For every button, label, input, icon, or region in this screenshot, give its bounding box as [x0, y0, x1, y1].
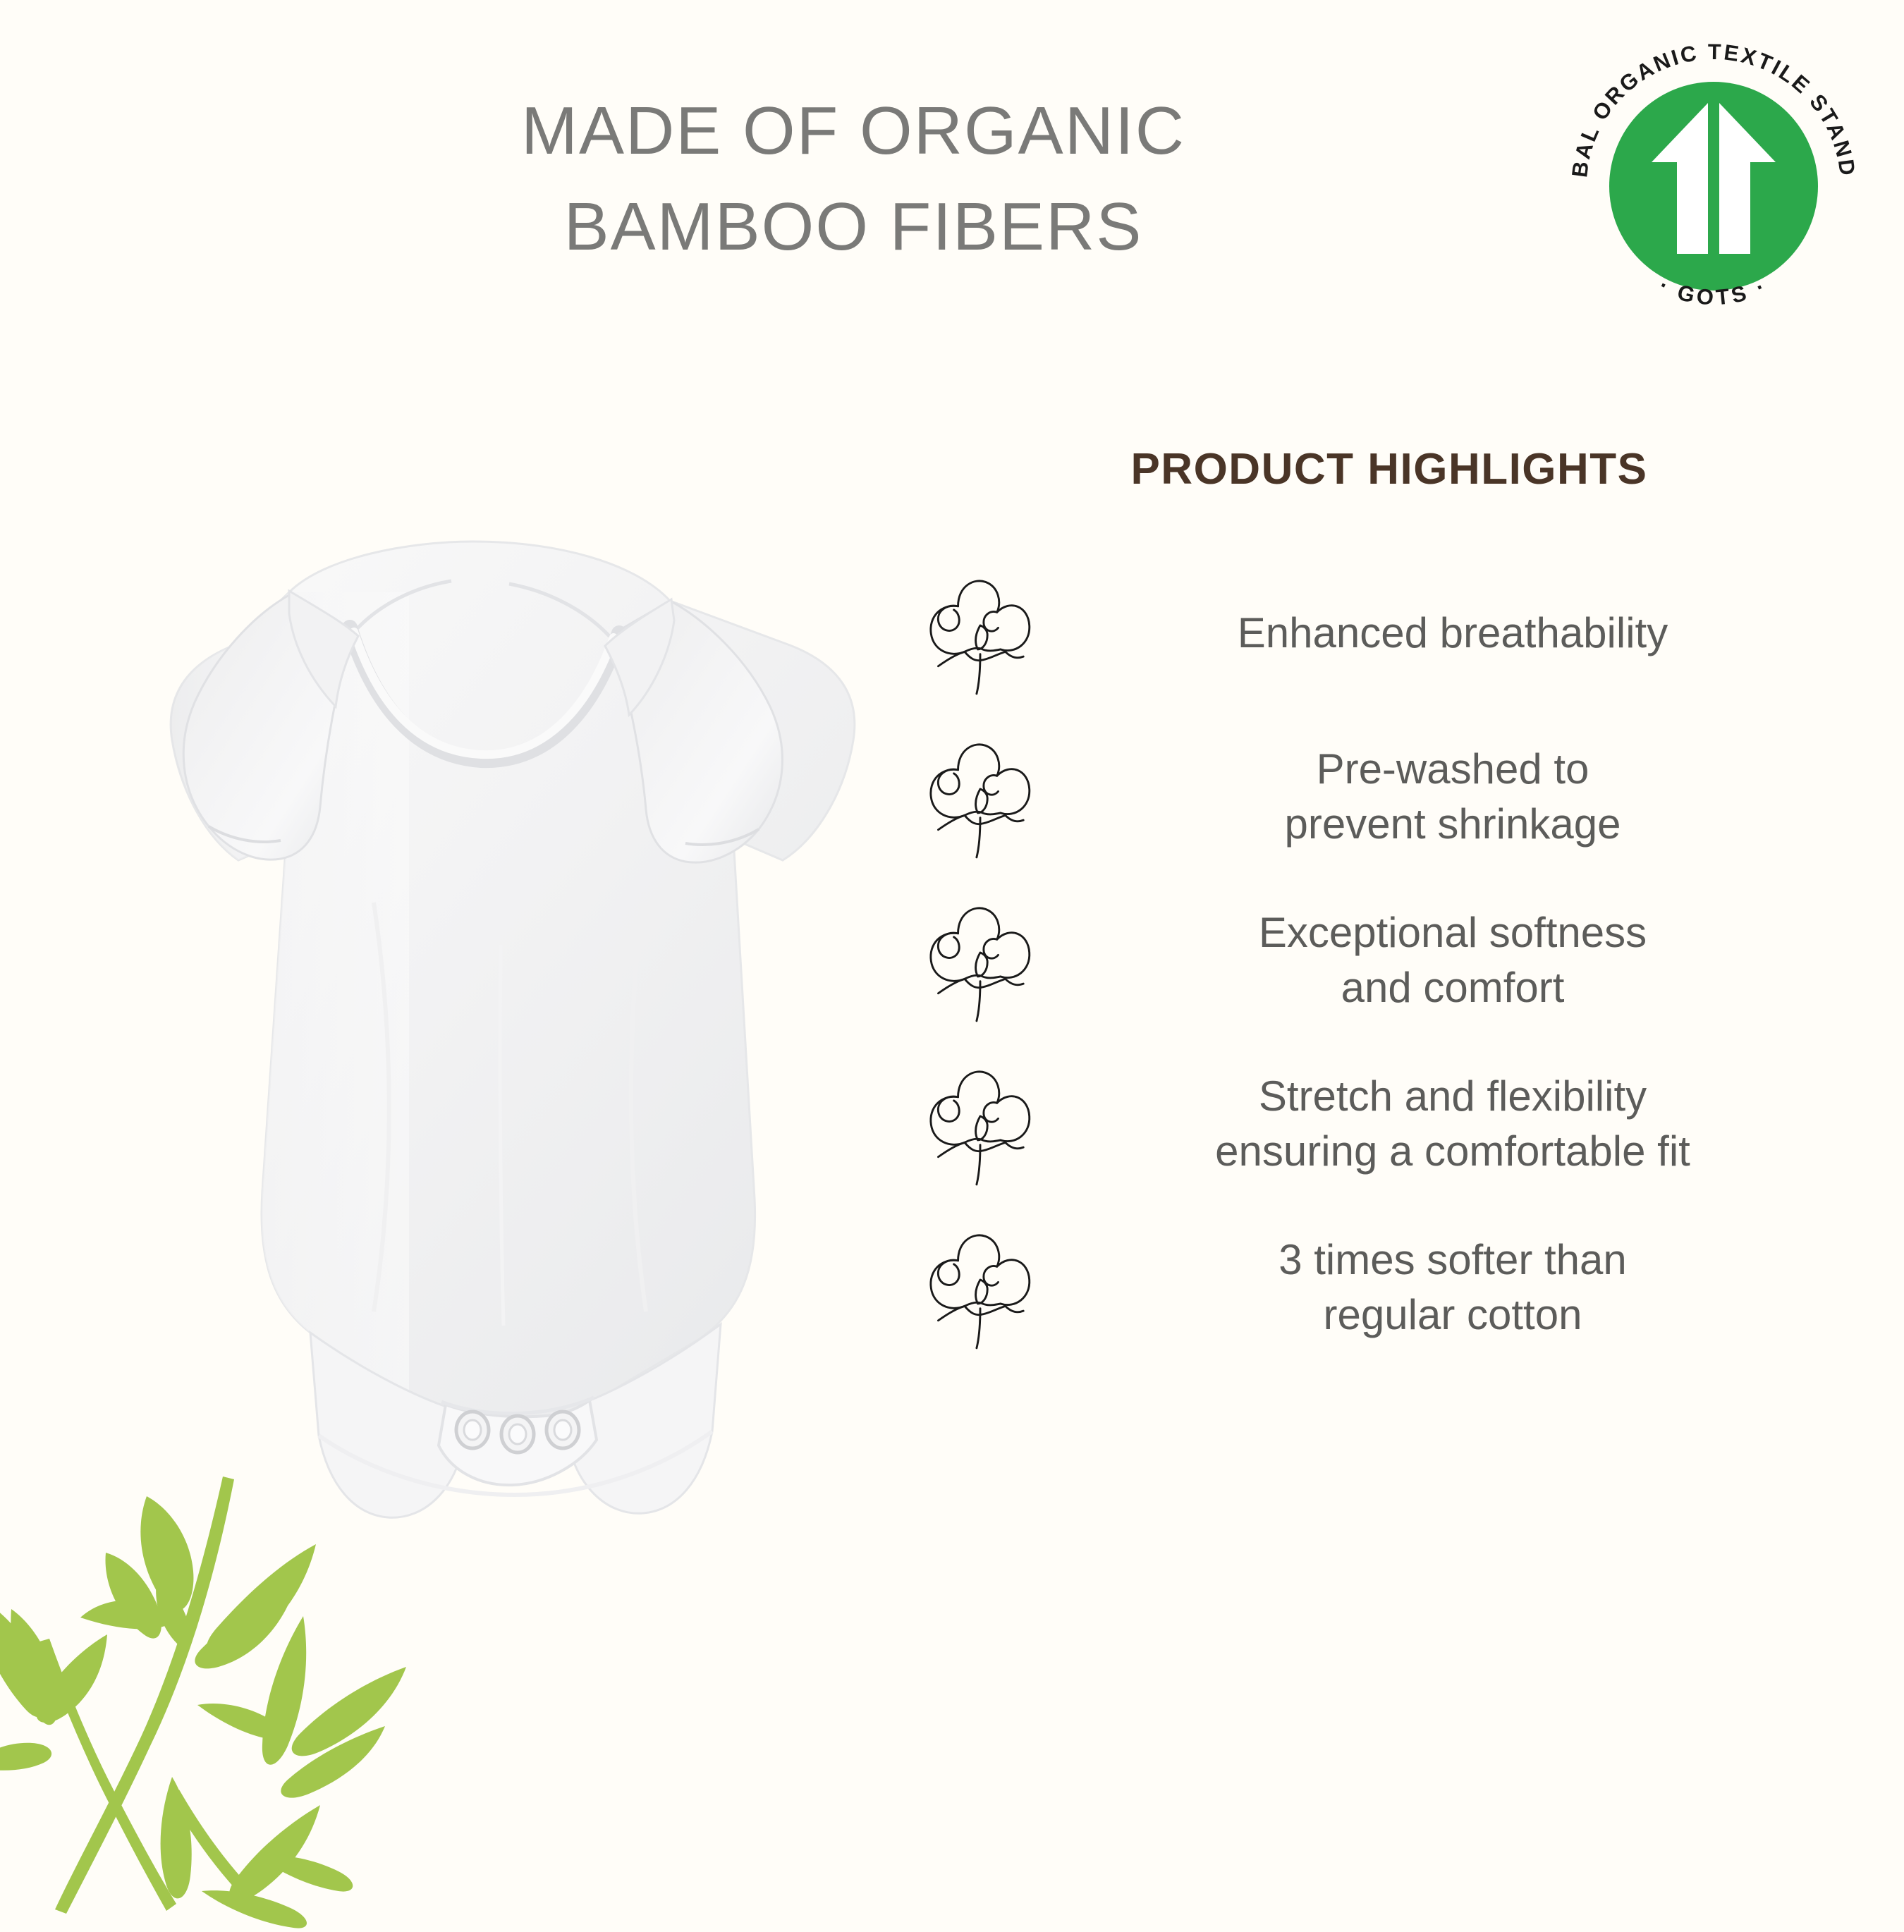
gots-certification-seal: GLOBAL ORGANIC TEXTILE STANDARD · GOTS ·: [1551, 13, 1876, 351]
highlight-label-line-2: ensuring a comfortable fit: [1051, 1124, 1855, 1179]
cotton-boll-icon: [910, 893, 1051, 1027]
highlight-label-line-1: Pre-washed to: [1051, 742, 1855, 797]
product-highlights-panel: PRODUCT HIGHLIGHTS: [910, 444, 1869, 1377]
headline-line-1: MADE OF ORGANIC: [395, 83, 1312, 179]
headline-line-2: BAMBOO FIBERS: [395, 179, 1312, 275]
highlight-label-line-2: prevent shrinkage: [1051, 797, 1855, 852]
cotton-boll-icon: [910, 566, 1051, 700]
gots-green-circle: [1609, 82, 1818, 291]
highlight-label: Stretch and flexibility ensuring a comfo…: [1051, 1069, 1869, 1179]
highlight-item: Enhanced breathability: [910, 559, 1869, 707]
highlight-item: Stretch and flexibility ensuring a comfo…: [910, 1050, 1869, 1198]
highlight-label-line-1: Stretch and flexibility: [1051, 1069, 1855, 1124]
highlight-label-line-2: regular cotton: [1051, 1288, 1855, 1343]
highlight-label: 3 times softer than regular cotton: [1051, 1233, 1869, 1343]
white-baby-bodysuit: [78, 508, 952, 1608]
page-canvas: MADE OF ORGANIC BAMBOO FIBERS GLOBAL ORG…: [0, 0, 1904, 1904]
highlight-label-line-2: and comfort: [1051, 960, 1855, 1015]
cotton-boll-icon: [910, 730, 1051, 864]
highlight-label: Pre-washed to prevent shrinkage: [1051, 742, 1869, 852]
cotton-boll-icon: [910, 1221, 1051, 1355]
snap-buttons: [456, 1412, 579, 1453]
page-title: MADE OF ORGANIC BAMBOO FIBERS: [395, 83, 1312, 276]
highlight-item: Exceptional softness and comfort: [910, 886, 1869, 1034]
highlights-title: PRODUCT HIGHLIGHTS: [910, 444, 1869, 494]
highlight-item: Pre-washed to prevent shrinkage: [910, 723, 1869, 871]
highlight-label-line-1: 3 times softer than: [1051, 1233, 1855, 1288]
highlight-label: Enhanced breathability: [1051, 606, 1869, 661]
highlight-label-line-1: Enhanced breathability: [1051, 606, 1855, 661]
cotton-boll-icon: [910, 1057, 1051, 1191]
highlight-label-line-1: Exceptional softness: [1051, 905, 1855, 960]
highlight-item: 3 times softer than regular cotton: [910, 1213, 1869, 1362]
highlight-label: Exceptional softness and comfort: [1051, 905, 1869, 1015]
